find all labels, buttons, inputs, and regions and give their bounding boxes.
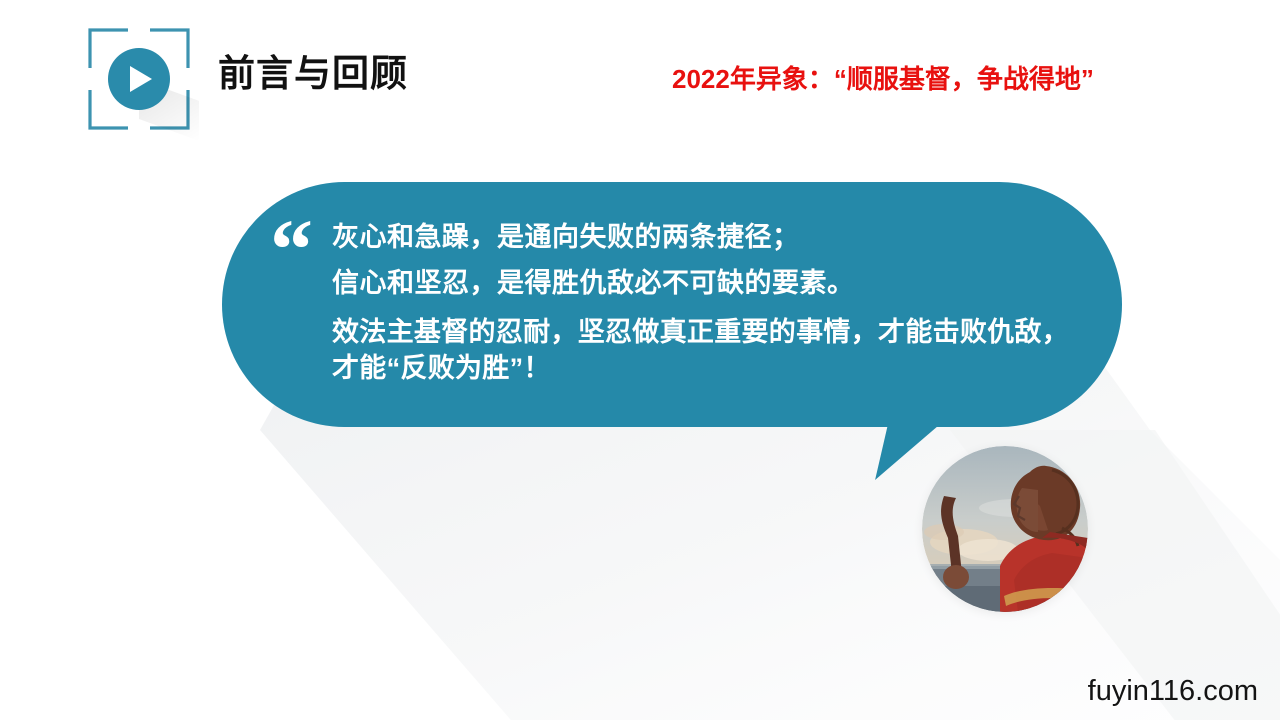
slide-canvas: 前言与回顾 2022年异象：“顺服基督，争战得地” “ 灰心和急躁，是通向失败的… [0, 0, 1280, 720]
quote-line-2: 信心和坚忍，是得胜仇敌必不可缺的要素。 [332, 260, 1092, 306]
vision-statement: 2022年异象：“顺服基督，争战得地” [672, 66, 1094, 92]
slide-header: 前言与回顾 2022年异象：“顺服基督，争战得地” [0, 0, 1280, 140]
quote-line-1: 灰心和急躁，是通向失败的两条捷径； [332, 214, 1092, 260]
bubble-body: “ 灰心和急躁，是通向失败的两条捷径； 信心和坚忍，是得胜仇敌必不可缺的要素。 … [222, 182, 1122, 427]
site-watermark: fuyin116.com [1088, 675, 1258, 708]
quote-paragraph: 效法主基督的忍耐，坚忍做真正重要的事情，才能击败仇敌，才能“反败为胜”！ [332, 314, 1072, 386]
logo-mark [88, 28, 190, 130]
bubble-tail [875, 420, 945, 480]
portrait-illustration [922, 446, 1088, 612]
quote-mark-icon: “ [270, 206, 313, 292]
play-button-icon [130, 66, 152, 92]
portrait-avatar [922, 446, 1088, 612]
quote-text-block: 灰心和急躁，是通向失败的两条捷径； 信心和坚忍，是得胜仇敌必不可缺的要素。 效法… [332, 214, 1092, 386]
page-title: 前言与回顾 [218, 55, 408, 92]
quote-bubble: “ 灰心和急躁，是通向失败的两条捷径； 信心和坚忍，是得胜仇敌必不可缺的要素。 … [222, 182, 1122, 442]
